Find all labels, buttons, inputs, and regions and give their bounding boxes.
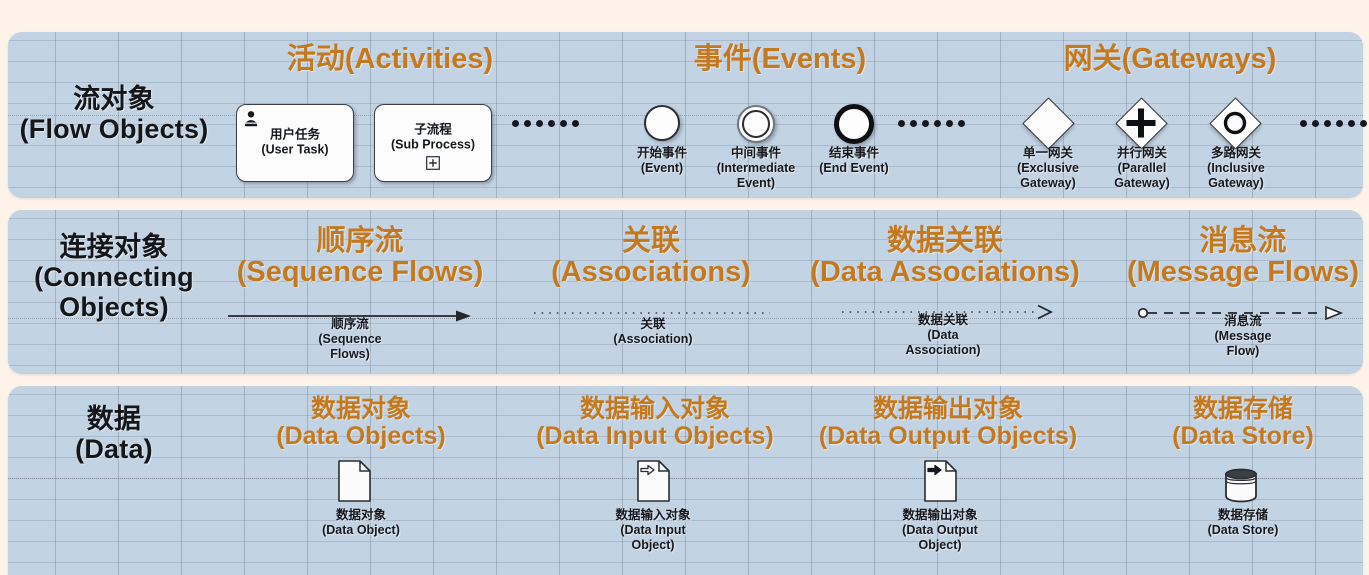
group-title-data-objects: 数据对象 (Data Objects) bbox=[236, 396, 486, 449]
shape-sub-process-caption: 子流程 (Sub Process) bbox=[375, 123, 491, 153]
shape-sub-process[interactable]: 子流程 (Sub Process) bbox=[374, 104, 492, 182]
shape-data-association-en2: Association) bbox=[878, 343, 1008, 358]
shape-exclusive-gateway-cn: 单一网关 bbox=[994, 146, 1102, 161]
group-title-data-store: 数据存储 (Data Store) bbox=[1118, 396, 1368, 449]
shape-start-event-cn: 开始事件 bbox=[612, 146, 712, 161]
intermediate-event-icon[interactable] bbox=[737, 105, 775, 143]
shape-data-output-object-en2: Object) bbox=[875, 538, 1005, 553]
shape-data-object-cn: 数据对象 bbox=[296, 508, 426, 523]
row-label-flow-objects: 流对象 (Flow Objects) bbox=[0, 84, 228, 144]
group-title-events: 事件(Events) bbox=[630, 44, 930, 75]
shape-message-flow-en2: Flow) bbox=[1178, 344, 1308, 359]
shape-parallel-gateway-cn: 并行网关 bbox=[1090, 146, 1194, 161]
exclusive-gateway-icon[interactable] bbox=[1024, 99, 1072, 147]
shape-exclusive-gateway-en: (Exclusive Gateway) bbox=[994, 161, 1102, 191]
group-title-data-output-objects-cn: 数据输出对象 bbox=[798, 396, 1098, 423]
shape-data-input-object-caption: 数据输入对象 (Data Input Object) bbox=[588, 508, 718, 552]
inclusive-gateway-icon[interactable] bbox=[1211, 99, 1259, 147]
group-title-activities-cn: 活动 bbox=[287, 43, 345, 75]
shape-start-event-caption: 开始事件 (Event) bbox=[612, 146, 712, 176]
group-title-gateways: 网关(Gateways) bbox=[1010, 44, 1330, 75]
row-label-data-cn: 数据 bbox=[0, 404, 228, 434]
ellipsis-gateways: ...... bbox=[1300, 120, 1367, 127]
group-title-data-input-objects-cn: 数据输入对象 bbox=[512, 396, 798, 423]
ellipsis-activities: ...... bbox=[512, 120, 579, 127]
data-output-object-icon[interactable] bbox=[923, 459, 959, 503]
shape-association-en1: (Association) bbox=[588, 332, 718, 347]
shape-end-event-en: (End Event) bbox=[804, 161, 904, 176]
group-title-message-flows: 消息流 (Message Flows) bbox=[1112, 226, 1369, 287]
shape-data-input-object-en2: Object) bbox=[588, 538, 718, 553]
group-title-data-associations-en: (Data Associations) bbox=[800, 257, 1090, 288]
row-label-flow-objects-cn: 流对象 bbox=[0, 84, 228, 114]
group-title-data-objects-en: (Data Objects) bbox=[236, 423, 486, 450]
group-title-activities-en: (Activities) bbox=[345, 43, 493, 75]
shape-exclusive-gateway-caption: 单一网关 (Exclusive Gateway) bbox=[994, 146, 1102, 190]
group-title-data-output-objects-en: (Data Output Objects) bbox=[798, 423, 1098, 450]
group-title-events-en: (Events) bbox=[752, 43, 866, 75]
row-label-data: 数据 (Data) bbox=[0, 404, 228, 464]
shape-intermediate-event-caption: 中间事件 (Intermediate Event) bbox=[700, 146, 812, 190]
parallel-gateway-icon[interactable] bbox=[1117, 99, 1165, 147]
shape-association-cn: 关联 bbox=[588, 317, 718, 332]
group-title-associations-cn: 关联 bbox=[520, 226, 782, 257]
shape-association-caption: 关联 (Association) bbox=[588, 317, 718, 347]
group-title-data-input-objects-en: (Data Input Objects) bbox=[512, 423, 798, 450]
group-title-message-flows-en: (Message Flows) bbox=[1112, 257, 1369, 288]
data-object-icon[interactable] bbox=[337, 459, 373, 503]
shape-sequence-flow-en2: Flows) bbox=[285, 347, 415, 362]
shape-sub-process-cn: 子流程 bbox=[375, 123, 491, 138]
group-title-activities: 活动(Activities) bbox=[240, 44, 540, 75]
shape-user-task-caption: 用户任务 (User Task) bbox=[237, 127, 353, 157]
row-label-connecting-objects-en1: (Connecting bbox=[0, 262, 228, 292]
start-event-icon[interactable] bbox=[644, 105, 680, 141]
shape-data-object-caption: 数据对象 (Data Object) bbox=[296, 508, 426, 538]
shape-end-event-caption: 结束事件 (End Event) bbox=[804, 146, 904, 176]
shape-intermediate-event-cn: 中间事件 bbox=[700, 146, 812, 161]
shape-data-association-en1: (Data bbox=[878, 328, 1008, 343]
group-title-sequence-flows-cn: 顺序流 bbox=[205, 226, 515, 257]
grid-guide-line bbox=[8, 478, 1363, 479]
shape-data-association-caption: 数据关联 (Data Association) bbox=[878, 313, 1008, 357]
shape-start-event-en: (Event) bbox=[612, 161, 712, 176]
shape-sequence-flow-cn: 顺序流 bbox=[285, 317, 415, 332]
row-label-connecting-objects: 连接对象 (Connecting Objects) bbox=[0, 232, 228, 323]
shape-intermediate-event-en: (Intermediate Event) bbox=[700, 161, 812, 191]
shape-data-store-caption: 数据存储 (Data Store) bbox=[1178, 508, 1308, 538]
shape-message-flow-caption: 消息流 (Message Flow) bbox=[1178, 314, 1308, 358]
ellipsis-events: ...... bbox=[898, 120, 965, 127]
shape-message-flow-en1: (Message bbox=[1178, 329, 1308, 344]
shape-message-flow-cn: 消息流 bbox=[1178, 314, 1308, 329]
data-store-icon[interactable] bbox=[1222, 466, 1264, 504]
shape-data-input-object-en1: (Data Input bbox=[588, 523, 718, 538]
group-title-associations-en: (Associations) bbox=[520, 257, 782, 288]
shape-data-store-en1: (Data Store) bbox=[1178, 523, 1308, 538]
shape-inclusive-gateway-en: (Inclusive Gateway) bbox=[1184, 161, 1288, 191]
group-title-data-input-objects: 数据输入对象 (Data Input Objects) bbox=[512, 396, 798, 449]
shape-user-task-en: (User Task) bbox=[237, 142, 353, 157]
group-title-data-store-cn: 数据存储 bbox=[1118, 396, 1368, 423]
group-title-gateways-cn: 网关 bbox=[1064, 43, 1122, 75]
shape-parallel-gateway-caption: 并行网关 (Parallel Gateway) bbox=[1090, 146, 1194, 190]
group-title-data-output-objects: 数据输出对象 (Data Output Objects) bbox=[798, 396, 1098, 449]
group-title-sequence-flows-en: (Sequence Flows) bbox=[205, 257, 515, 288]
shape-end-event-cn: 结束事件 bbox=[804, 146, 904, 161]
group-title-data-associations-cn: 数据关联 bbox=[800, 226, 1090, 257]
bpmn-notation-legend: 流对象 (Flow Objects) 活动(Activities) 用户任务 (… bbox=[0, 0, 1369, 575]
shape-user-task-cn: 用户任务 bbox=[237, 127, 353, 142]
shape-data-object-en1: (Data Object) bbox=[296, 523, 426, 538]
shape-inclusive-gateway-caption: 多路网关 (Inclusive Gateway) bbox=[1184, 146, 1288, 190]
shape-data-output-object-cn: 数据输出对象 bbox=[875, 508, 1005, 523]
shape-data-output-object-en1: (Data Output bbox=[875, 523, 1005, 538]
shape-user-task[interactable]: 用户任务 (User Task) bbox=[236, 104, 354, 182]
data-input-object-icon[interactable] bbox=[636, 459, 672, 503]
group-title-message-flows-cn: 消息流 bbox=[1112, 226, 1369, 257]
shape-data-input-object-cn: 数据输入对象 bbox=[588, 508, 718, 523]
shape-data-output-object-caption: 数据输出对象 (Data Output Object) bbox=[875, 508, 1005, 552]
shape-data-store-cn: 数据存储 bbox=[1178, 508, 1308, 523]
row-label-connecting-objects-cn: 连接对象 bbox=[0, 232, 228, 262]
row-label-data-en: (Data) bbox=[0, 434, 228, 464]
group-title-events-cn: 事件 bbox=[694, 43, 752, 75]
row-label-flow-objects-en: (Flow Objects) bbox=[0, 114, 228, 144]
shape-inclusive-gateway-cn: 多路网关 bbox=[1184, 146, 1288, 161]
group-title-data-store-en: (Data Store) bbox=[1118, 423, 1368, 450]
group-title-sequence-flows: 顺序流 (Sequence Flows) bbox=[205, 226, 515, 287]
shape-data-association-cn: 数据关联 bbox=[878, 313, 1008, 328]
group-title-gateways-en: (Gateways) bbox=[1122, 43, 1277, 75]
end-event-icon[interactable] bbox=[834, 104, 874, 144]
sub-process-plus-icon bbox=[426, 156, 440, 175]
shape-sub-process-en: (Sub Process) bbox=[375, 138, 491, 153]
shape-sequence-flow-en1: (Sequence bbox=[285, 332, 415, 347]
group-title-data-objects-cn: 数据对象 bbox=[236, 396, 486, 423]
row-label-connecting-objects-en2: Objects) bbox=[0, 292, 228, 322]
group-title-associations: 关联 (Associations) bbox=[520, 226, 782, 287]
shape-sequence-flow-caption: 顺序流 (Sequence Flows) bbox=[285, 317, 415, 361]
group-title-data-associations: 数据关联 (Data Associations) bbox=[800, 226, 1090, 287]
shape-parallel-gateway-en: (Parallel Gateway) bbox=[1090, 161, 1194, 191]
